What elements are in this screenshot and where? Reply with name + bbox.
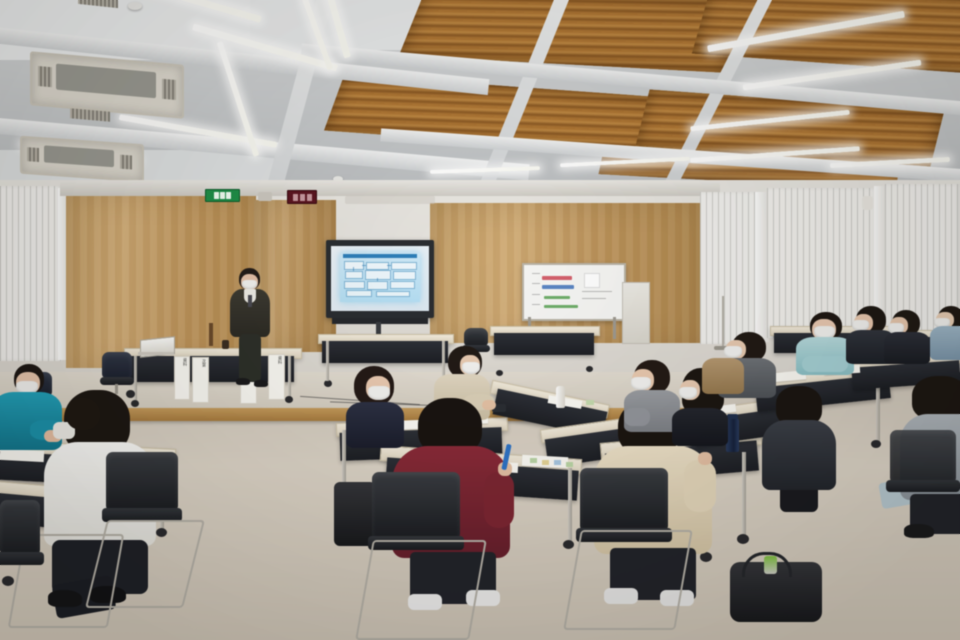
ceiling	[0, 0, 960, 186]
face-mask	[462, 362, 480, 374]
bottle-green-in-bag	[764, 556, 777, 574]
whiteboard	[522, 263, 626, 321]
photograph-scene: 資料 次第 配布 資料	[0, 0, 960, 640]
presenter	[228, 268, 272, 392]
face-mask	[368, 386, 390, 400]
ceiling-air-vent	[70, 108, 110, 121]
ceiling-sensor-icon	[862, 196, 873, 210]
table-caster	[737, 534, 749, 544]
participant-left-mid	[56, 398, 112, 464]
table-leg	[568, 468, 572, 544]
wall-speaker-icon	[258, 192, 272, 201]
projection-screen	[326, 240, 434, 318]
presenter-laptop-base	[138, 352, 174, 355]
movable-partition-wall	[700, 192, 758, 344]
whiteboard-frame-leg	[613, 317, 616, 339]
air-conditioner-unit	[30, 51, 184, 118]
chair[interactable]	[0, 500, 46, 590]
table-leg	[876, 382, 880, 444]
participant-right-edge	[762, 386, 838, 506]
whiteboard-bar-red	[542, 276, 572, 280]
table-leg	[326, 341, 329, 381]
necktie	[248, 295, 252, 307]
fire-alarm-sign	[287, 190, 317, 204]
chair[interactable]	[890, 430, 960, 520]
table-caster	[324, 380, 332, 387]
participant-tan-jacket-back	[702, 348, 746, 394]
whiteboard-bar-green	[544, 305, 578, 308]
hand	[698, 452, 712, 465]
wall-speaker-icon	[345, 196, 435, 204]
whiteboard-bar-green	[544, 296, 570, 299]
card	[530, 458, 537, 463]
table-caster	[285, 396, 293, 403]
chair-sled-base	[355, 540, 487, 640]
face-mask	[679, 387, 697, 399]
face-mask	[631, 377, 651, 390]
chair-sled-base	[563, 530, 693, 630]
table-modesty-panel	[494, 333, 594, 355]
card	[542, 460, 549, 465]
slide-title-bar	[343, 254, 417, 258]
participant-dark-top-back-2	[884, 310, 934, 364]
presentation-slide	[340, 253, 420, 302]
card	[586, 400, 594, 405]
smoke-detector-icon	[128, 2, 142, 10]
whiteboard-bar-blue	[542, 285, 574, 289]
movable-partition-wall	[0, 186, 62, 361]
emergency-exit-sign	[205, 189, 240, 202]
participant-light-top-back	[930, 306, 960, 362]
cabinet	[622, 282, 650, 344]
wall-header-rail	[60, 182, 720, 196]
table-leg	[288, 356, 291, 398]
table-caster	[563, 540, 574, 549]
table-caster	[586, 366, 593, 372]
candle-holder	[209, 323, 213, 346]
table-caster	[871, 440, 881, 448]
whiteboard-sticky-note	[584, 273, 600, 288]
ceiling-light	[742, 60, 921, 91]
bottle-white-table	[556, 386, 565, 408]
table-leg	[742, 452, 746, 538]
table-modesty-panel	[322, 341, 448, 363]
card	[554, 460, 561, 465]
handout-sheet: 次第	[192, 357, 209, 403]
handout-sheet: 資料	[174, 356, 190, 400]
face-mask	[242, 280, 257, 289]
card	[566, 462, 573, 467]
